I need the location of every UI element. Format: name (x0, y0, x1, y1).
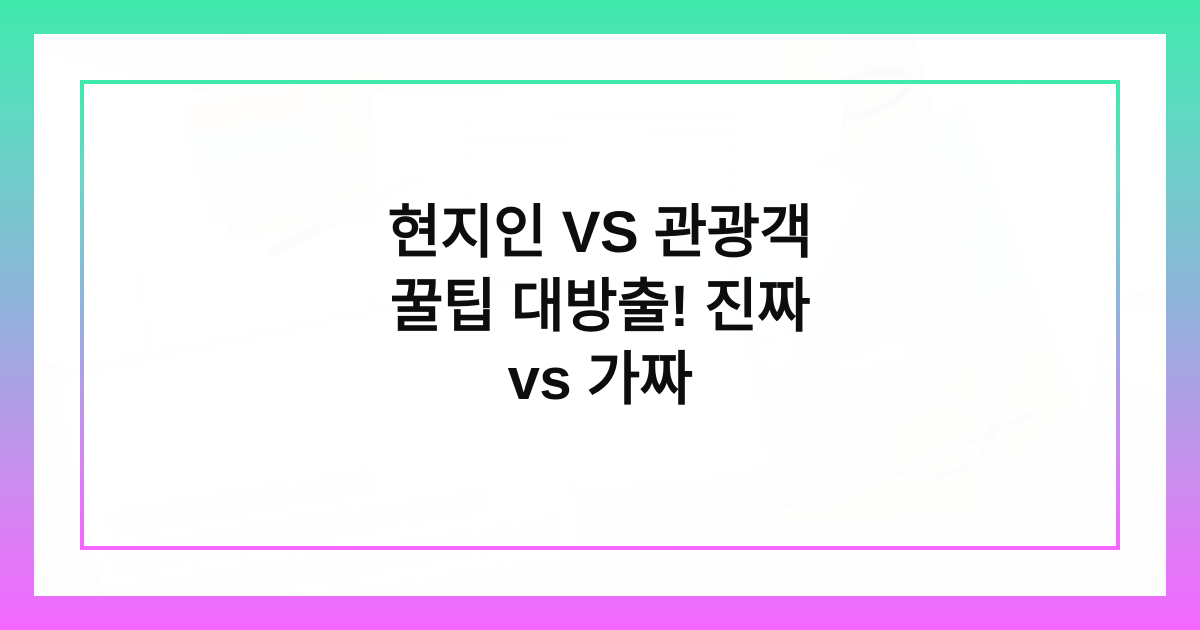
title-line-3: vs 가짜 (0, 343, 1200, 417)
thumbnail-card: 현지인 VS 관광객 꿀팁 대방출! 진짜 vs 가짜 (0, 0, 1200, 630)
title-line-1: 현지인 VS 관광객 (0, 196, 1200, 270)
page-title: 현지인 VS 관광객 꿀팁 대방출! 진짜 vs 가짜 (0, 196, 1200, 417)
title-line-2: 꿀팁 대방출! 진짜 (0, 270, 1200, 344)
